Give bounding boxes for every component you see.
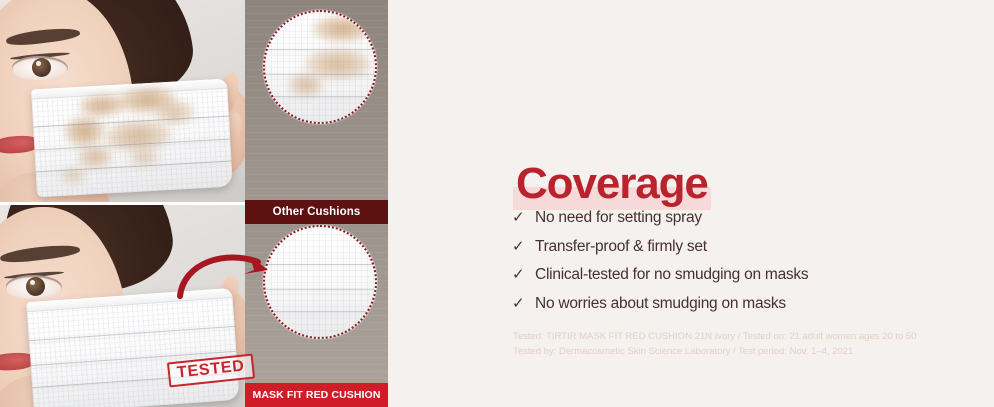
zoom-circle-stained [263,10,377,124]
caption-other-cushions: Other Cushions [245,200,388,224]
zoom-circle-clean [263,225,377,339]
list-item-label: Transfer-proof & firmly set [535,239,707,255]
check-icon: ✓ [512,296,525,311]
coverage-content-panel: Coverage ✓ No need for setting spray ✓ T… [388,0,994,407]
list-item: ✓ Transfer-proof & firmly set [512,239,808,255]
zoom-detail-mask-fit [245,203,388,407]
headline-text: Coverage [516,159,708,208]
stained-face-mask [31,79,233,198]
page-title: Coverage [513,162,711,210]
product-coverage-banner: TESTED Other Cushions MASK FIT RED CUSHI… [0,0,994,407]
model-iris [26,277,45,296]
list-item: ✓ No worries about smudging on masks [512,296,808,312]
mask-pleat [265,289,375,290]
list-item-label: No worries about smudging on masks [535,296,786,312]
clean-face-mask [26,288,239,407]
list-item: ✓ Clinical-tested for no smudging on mas… [512,267,808,283]
test-disclaimer: Tested: TIRTIR MASK FIT RED CUSHION 21N … [513,330,916,359]
model-eye [12,56,68,80]
mask-pleat [265,96,375,97]
zoom-detail-other-cushions [245,0,388,203]
model-photo-other-cushions [0,0,245,203]
benefit-list: ✓ No need for setting spray ✓ Transfer-p… [512,210,808,311]
mask-pleat [265,74,375,75]
check-icon: ✓ [512,239,525,254]
model-eye [6,275,62,299]
mask-pleat [265,311,375,312]
list-item: ✓ No need for setting spray [512,210,808,226]
mask-pleat [265,264,375,265]
disclaimer-line-2: Tested by: Dermacosmetic Skin Science La… [513,345,916,360]
foundation-stain [289,74,323,96]
model-iris [32,58,51,77]
photo-row-other-cushions [0,0,388,203]
disclaimer-line-1: Tested: TIRTIR MASK FIT RED CUSHION 21N … [513,330,916,345]
zoom-weave-texture [265,227,375,337]
comparison-image-panel: TESTED Other Cushions MASK FIT RED CUSHI… [0,0,388,407]
check-icon: ✓ [512,210,525,225]
list-item-label: Clinical-tested for no smudging on masks [535,267,808,283]
mask-pleat [265,49,375,50]
check-icon: ✓ [512,267,525,282]
caption-mask-fit-red-cushion: MASK FIT RED CUSHION [245,383,388,407]
list-item-label: No need for setting spray [535,210,702,226]
